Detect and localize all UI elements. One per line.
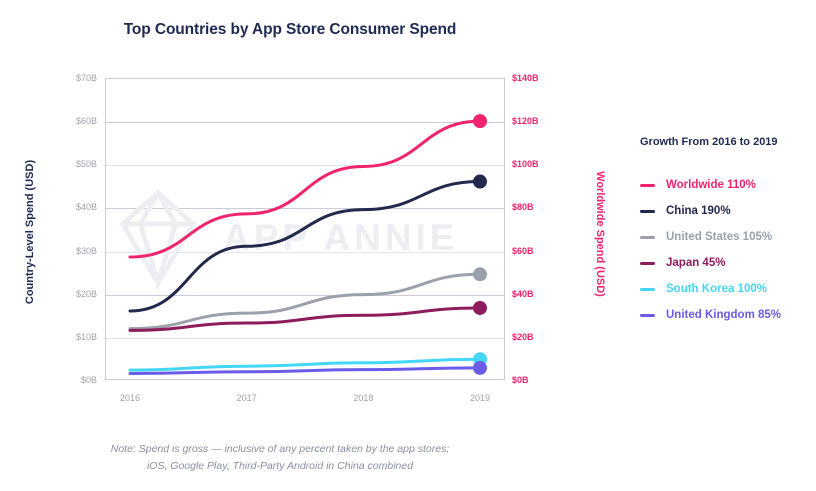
footnote-line-2: iOS, Google Play, Third-Party Android in… xyxy=(0,458,560,475)
y-axis-left-tick-label: $0B xyxy=(81,375,97,385)
legend-item-label: Japan 45% xyxy=(666,257,725,269)
y-axis-left-tick-label: $40B xyxy=(76,202,97,212)
x-axis-tick-label: 2016 xyxy=(120,393,140,403)
legend-swatch-icon xyxy=(640,210,655,213)
y-axis-left-tick-label: $20B xyxy=(76,289,97,299)
legend-item-label: South Korea 100% xyxy=(666,283,767,295)
y-axis-right-tick-label: $20B xyxy=(512,332,534,342)
series-endpoint-united-states xyxy=(473,267,487,281)
legend-item-united-kingdom[interactable]: United Kingdom 85% xyxy=(640,302,816,328)
series-endpoint-japan xyxy=(473,301,487,315)
series-endpoint-china xyxy=(473,175,487,189)
y-axis-right-tick-label: $80B xyxy=(512,202,534,212)
y-axis-right-ticks: $0B$20B$40B$60B$80B$100B$120B$140B xyxy=(512,78,572,380)
y-axis-right-title: Worldwide Spend (USD) xyxy=(594,134,606,334)
series-line-japan xyxy=(130,308,480,330)
y-axis-left-tick-label: $10B xyxy=(76,332,97,342)
chart-footnote: Note: Spend is gross — inclusive of any … xyxy=(0,441,560,475)
legend-swatch-icon xyxy=(640,314,655,317)
legend-swatch-icon xyxy=(640,236,655,239)
legend-item-south-korea[interactable]: South Korea 100% xyxy=(640,276,816,302)
legend-items: Worldwide 110%China 190%United States 10… xyxy=(640,172,816,328)
legend-item-china[interactable]: China 190% xyxy=(640,198,816,224)
y-axis-left-ticks: $0B$10B$20B$30B$40B$50B$60B$70B xyxy=(45,78,97,380)
x-axis-ticks: 2016201720182019 xyxy=(105,393,505,409)
y-axis-right-tick-label: $100B xyxy=(512,159,539,169)
series-endpoint-worldwide xyxy=(473,114,487,128)
x-axis-tick-label: 2017 xyxy=(237,393,257,403)
footnote-line-1: Note: Spend is gross — inclusive of any … xyxy=(0,441,560,458)
legend-item-label: Worldwide 110% xyxy=(666,179,756,191)
series-line-worldwide xyxy=(130,121,480,257)
y-axis-left-tick-label: $30B xyxy=(76,246,97,256)
y-axis-right-tick-label: $60B xyxy=(512,246,534,256)
legend: Growth From 2016 to 2019 Worldwide 110%C… xyxy=(640,136,816,328)
series-endpoint-united-kingdom xyxy=(473,361,487,375)
legend-title: Growth From 2016 to 2019 xyxy=(640,136,816,148)
y-axis-left-tick-label: $50B xyxy=(76,159,97,169)
x-axis-tick-label: 2019 xyxy=(470,393,490,403)
y-axis-left-tick-label: $60B xyxy=(76,116,97,126)
legend-swatch-icon xyxy=(640,184,655,187)
legend-item-label: China 190% xyxy=(666,205,731,217)
legend-item-united-states[interactable]: United States 105% xyxy=(640,224,816,250)
y-axis-left-tick-label: $70B xyxy=(76,73,97,83)
x-axis-tick-label: 2018 xyxy=(353,393,373,403)
y-axis-right-tick-label: $140B xyxy=(512,73,539,83)
y-axis-left-title: Country-Level Spend (USD) xyxy=(24,132,36,332)
series-lines xyxy=(105,78,505,380)
series-line-china xyxy=(130,182,480,311)
legend-swatch-icon xyxy=(640,288,655,291)
legend-item-japan[interactable]: Japan 45% xyxy=(640,250,816,276)
y-axis-right-tick-label: $40B xyxy=(512,289,534,299)
legend-item-label: United Kingdom 85% xyxy=(666,309,781,321)
y-axis-right-tick-label: $120B xyxy=(512,116,539,126)
legend-item-worldwide[interactable]: Worldwide 110% xyxy=(640,172,816,198)
chart-root: Top Countries by App Store Consumer Spen… xyxy=(0,0,816,491)
legend-swatch-icon xyxy=(640,262,655,265)
y-axis-right-tick-label: $0B xyxy=(512,375,529,385)
chart-title: Top Countries by App Store Consumer Spen… xyxy=(0,21,580,39)
legend-item-label: United States 105% xyxy=(666,231,772,243)
